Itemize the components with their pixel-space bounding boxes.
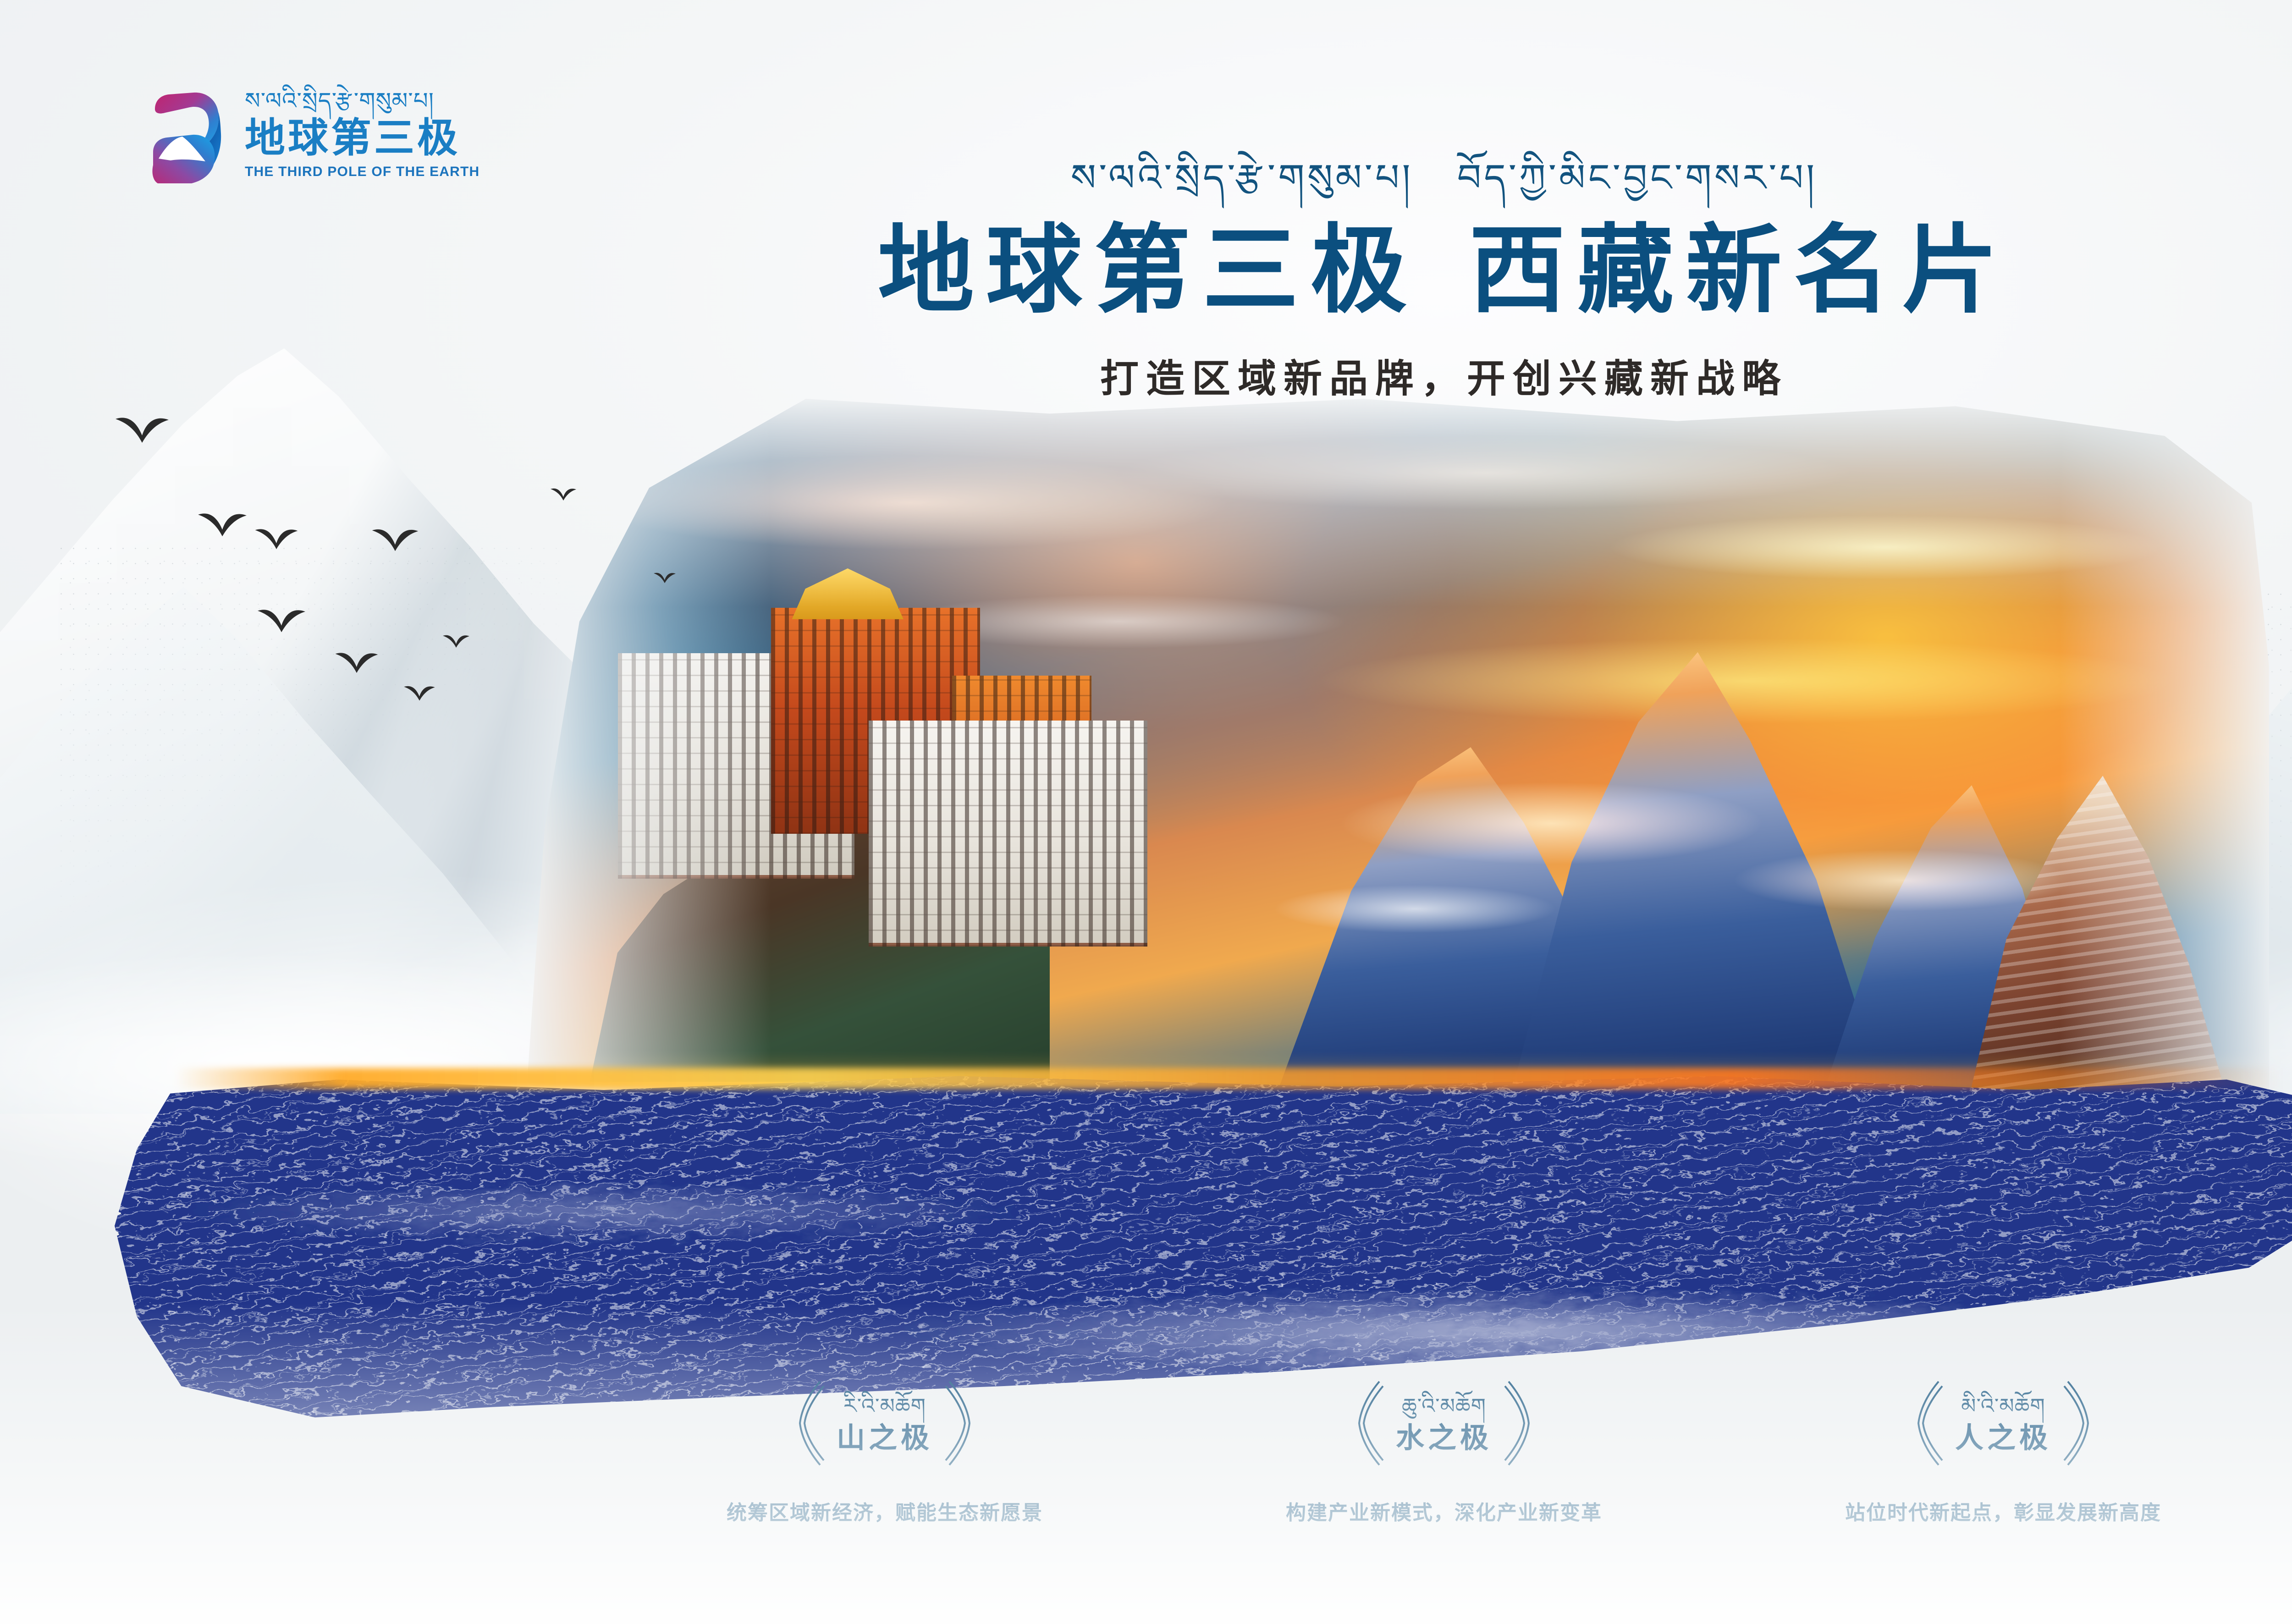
- collage-fade-right: [2060, 399, 2269, 1141]
- pillar-people[interactable]: མི་འི་མཆོག 人之极 站位时代新起点，彰显发展新高度: [1824, 1371, 2182, 1526]
- pillar-tibetan: མི་འི་མཆོག: [1961, 1393, 2045, 1420]
- poster-canvas: ས་ལའི་སྲིད་རྩེ་གསུམ་པ། 地球第三极 THE THIRD P…: [0, 0, 2292, 1624]
- headline-block: ས་ལའི་སྲིད་རྩེ་གསུམ་པ།བོད་ཀྱི་མིང་བྱང་གས…: [0, 151, 2292, 402]
- pillar-title: 人之极: [1955, 1423, 2051, 1454]
- headline-tibetan-line-2: བོད་ཀྱི་མིང་བྱང་གསར་པ།: [1457, 151, 1818, 206]
- brace-right-icon: [1504, 1380, 1532, 1467]
- brace-left-icon: [1915, 1380, 1943, 1467]
- pillar-tibetan: རི་འི་མཆོག: [843, 1393, 926, 1420]
- brace-right-icon: [2063, 1380, 2092, 1467]
- pillar-tibetan: ཆུ་འི་མཆོག: [1402, 1393, 1486, 1420]
- pillars-row: རི་འི་མཆོག 山之极 统筹区域新经济，赋能生态新愿景 ཆུ་འི་མཆོ…: [0, 1371, 2292, 1526]
- page-subtitle: 打造区域新品牌，开创兴藏新战略: [0, 356, 2292, 402]
- pillar-badge: རི་འི་མཆོག 山之极: [706, 1371, 1063, 1476]
- collage-fade-top: [527, 399, 2269, 607]
- pillar-mountain[interactable]: རི་འི་མཆོག 山之极 统筹区域新经济，赋能生态新愿景: [706, 1371, 1063, 1526]
- headline-tibetan-line-1: ས་ལའི་སྲིད་རྩེ་གསུམ་པ།: [1071, 151, 1413, 206]
- headline-tibetan: ས་ལའི་སྲིད་རྩེ་གསུམ་པ།བོད་ཀྱི་མིང་བྱང་གས…: [0, 151, 2292, 206]
- pillar-title: 山之极: [837, 1423, 933, 1454]
- brush-speckles: [115, 1073, 2292, 1421]
- pillar-water[interactable]: ཆུ་འི་མཆོག 水之极 构建产业新模式，深化产业新变革: [1265, 1371, 1623, 1526]
- pillar-words: མི་འི་མཆོག 人之极: [1955, 1393, 2051, 1454]
- brace-left-icon: [796, 1380, 825, 1467]
- page-title-part-1: 地球第三极: [878, 216, 1419, 324]
- brush-top-glow: [174, 1068, 2283, 1089]
- pillar-description: 构建产业新模式，深化产业新变革: [1265, 1500, 1623, 1526]
- pillar-badge: མི་འི་མཆོག 人之极: [1824, 1371, 2182, 1476]
- pillar-words: རི་འི་མཆོག 山之极: [837, 1393, 933, 1454]
- bird-icon: [550, 486, 577, 501]
- pillar-description: 站位时代新起点，彰显发展新高度: [1824, 1500, 2182, 1526]
- palace-white-wing-right: [869, 721, 1147, 946]
- hero-collage: [527, 399, 2269, 1141]
- palace-windows-right: [869, 721, 1147, 946]
- collage-fade-left: [527, 399, 771, 1141]
- page-title: 地球第三极西藏新名片: [0, 219, 2292, 323]
- brace-left-icon: [1355, 1380, 1384, 1467]
- pillar-title: 水之极: [1396, 1423, 1492, 1454]
- blue-brush-stroke: [115, 1073, 2292, 1421]
- bird-icon: [115, 413, 170, 444]
- pillar-badge: ཆུ་འི་མཆོག 水之极: [1265, 1371, 1623, 1476]
- brace-right-icon: [945, 1380, 973, 1467]
- pillar-description: 统筹区域新经济，赋能生态新愿景: [706, 1500, 1063, 1526]
- pillar-words: ཆུ་འི་མཆོག 水之极: [1396, 1393, 1492, 1454]
- logo-tibetan-text: ས་ལའི་སྲིད་རྩེ་གསུམ་པ།: [245, 86, 479, 117]
- page-title-part-2: 西藏新名片: [1469, 219, 2010, 323]
